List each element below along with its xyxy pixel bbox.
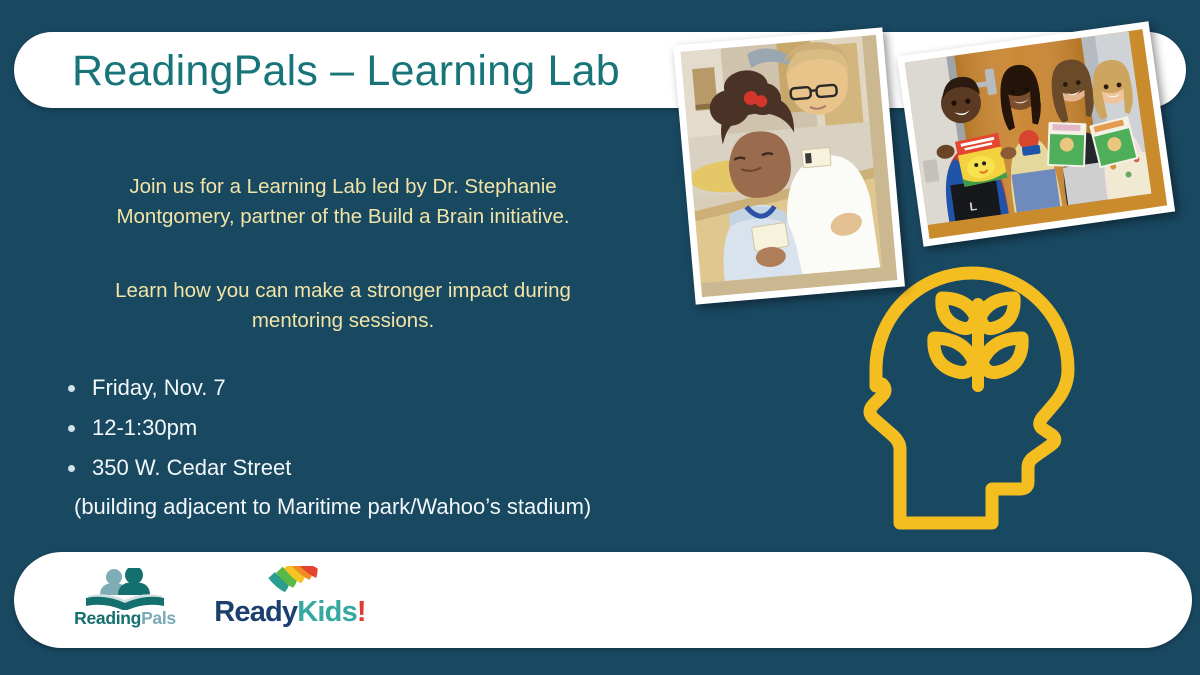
bullet-icon <box>68 385 75 392</box>
children-with-books-photo: L <box>897 21 1175 246</box>
readykids-word-3: ! <box>357 596 366 628</box>
readykids-word-2: Kids <box>297 596 357 628</box>
readingpals-word-1: Reading <box>74 608 141 628</box>
benefit-paragraph: Learn how you can make a stronger impact… <box>78 276 608 336</box>
intro-paragraph: Join us for a Learning Lab led by Dr. St… <box>78 172 608 232</box>
detail-date: Friday, Nov. 7 <box>92 375 226 400</box>
mentor-and-child-photo <box>673 27 905 304</box>
detail-address-note: (building adjacent to Maritime park/Waho… <box>60 490 800 524</box>
list-item: 12-1:30pm <box>60 408 800 448</box>
detail-address: 350 W. Cedar Street <box>92 455 291 480</box>
bullet-icon <box>68 465 75 472</box>
readykids-wordmark: ReadyKids! <box>214 596 366 629</box>
head-with-sprout-svg <box>862 258 1094 540</box>
bullet-icon <box>68 425 75 432</box>
readykids-logo: ReadyKids! <box>214 568 366 634</box>
kids-photo-illustration: L <box>905 31 1152 225</box>
mentor-photo-illustration <box>681 36 883 283</box>
readingpals-logo: ReadingPals <box>70 568 180 634</box>
flyer-canvas: ReadingPals – Learning Lab <box>0 0 1200 675</box>
readykids-rainbow-fan-icon <box>260 566 322 596</box>
event-details-list: Friday, Nov. 7 12-1:30pm 350 W. Cedar St… <box>60 368 800 488</box>
readykids-word-1: Ready <box>214 596 297 628</box>
readingpals-book-and-people-icon <box>84 568 166 610</box>
list-item: Friday, Nov. 7 <box>60 368 800 408</box>
kids-photo-frame: L <box>905 29 1167 239</box>
readingpals-wordmark: ReadingPals <box>70 608 180 629</box>
detail-time: 12-1:30pm <box>92 415 197 440</box>
readingpals-word-2: Pals <box>141 608 176 628</box>
page-title: ReadingPals – Learning Lab <box>72 40 620 102</box>
logo-row: ReadingPals ReadyKids! <box>70 566 366 634</box>
mentor-photo-frame <box>681 35 898 297</box>
event-details: Friday, Nov. 7 12-1:30pm 350 W. Cedar St… <box>60 368 800 524</box>
list-item: 350 W. Cedar Street <box>60 448 800 488</box>
head-with-sprout-icon <box>862 258 1094 540</box>
